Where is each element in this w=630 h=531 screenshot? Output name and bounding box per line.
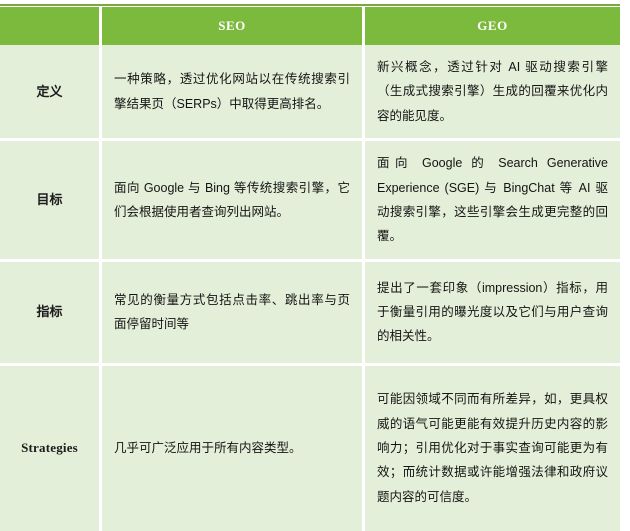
header-cell-label bbox=[0, 7, 102, 45]
table-row: 指标 常见的衡量方式包括点击率、跳出率与页面停留时间等 提出了一套印象（impr… bbox=[0, 262, 620, 366]
cell-geo-definition: 新兴概念，透过针对 AI 驱动搜索引擎（生成式搜索引擎）生成的回覆来优化内容的能… bbox=[365, 45, 620, 141]
table-row: 目标 面向 Google 与 Bing 等传统搜索引擎，它们会根据使用者查询列出… bbox=[0, 141, 620, 262]
table-header-row: SEO GEO bbox=[0, 7, 620, 45]
cell-geo-strategies: 可能因领域不同而有所差异，如，更具权威的语气可能更能有效提升历史内容的影响力；引… bbox=[365, 366, 620, 531]
table-row: 定义 一种策略，透过优化网站以在传统搜索引擎结果页（SERPs）中取得更高排名。… bbox=[0, 45, 620, 141]
cell-seo-goal: 面向 Google 与 Bing 等传统搜索引擎，它们会根据使用者查询列出网站。 bbox=[102, 141, 365, 262]
header-cell-geo: GEO bbox=[365, 7, 620, 45]
cell-seo-definition: 一种策略，透过优化网站以在传统搜索引擎结果页（SERPs）中取得更高排名。 bbox=[102, 45, 365, 141]
header-cell-seo: SEO bbox=[102, 7, 365, 45]
cell-seo-strategies: 几乎可广泛应用于所有内容类型。 bbox=[102, 366, 365, 531]
seo-geo-comparison-table: SEO GEO 定义 一种策略，透过优化网站以在传统搜索引擎结果页（SERPs）… bbox=[0, 7, 620, 531]
row-label-strategies: Strategies bbox=[0, 366, 102, 531]
table-row: Strategies 几乎可广泛应用于所有内容类型。 可能因领域不同而有所差异，… bbox=[0, 366, 620, 531]
table-body: 定义 一种策略，透过优化网站以在传统搜索引擎结果页（SERPs）中取得更高排名。… bbox=[0, 45, 620, 531]
cell-seo-metrics: 常见的衡量方式包括点击率、跳出率与页面停留时间等 bbox=[102, 262, 365, 366]
row-label-metrics: 指标 bbox=[0, 262, 102, 366]
cell-geo-metrics: 提出了一套印象（impression）指标，用于衡量引用的曝光度以及它们与用户查… bbox=[365, 262, 620, 366]
table-top-rule bbox=[0, 4, 620, 6]
cell-geo-goal: 面向 Google 的 Search Generative Experience… bbox=[365, 141, 620, 262]
row-label-definition: 定义 bbox=[0, 45, 102, 141]
row-label-goal: 目标 bbox=[0, 141, 102, 262]
page-root: SEO GEO 定义 一种策略，透过优化网站以在传统搜索引擎结果页（SERPs）… bbox=[0, 0, 630, 482]
table-header: SEO GEO bbox=[0, 7, 620, 45]
